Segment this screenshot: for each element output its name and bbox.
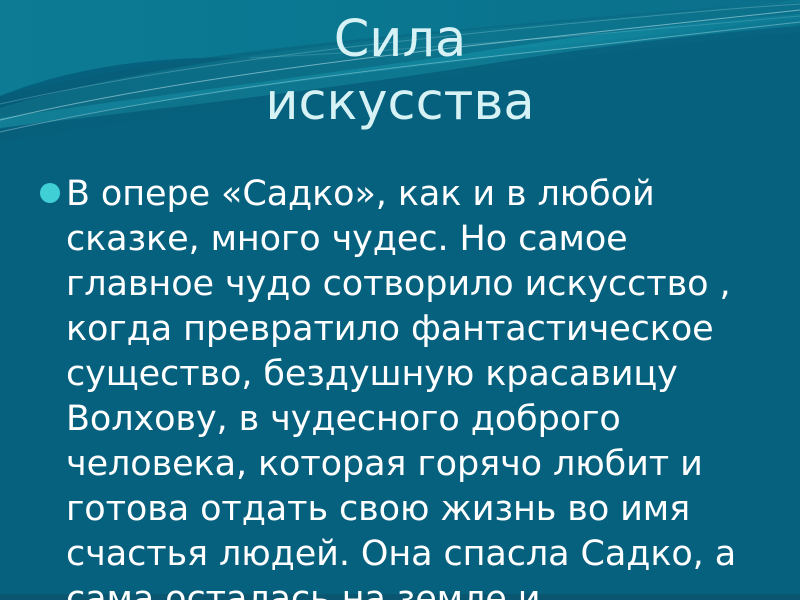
page-title: Сила искусства — [90, 8, 710, 134]
filled-circle-bullet-icon — [40, 183, 60, 203]
list-item: В опере «Садко», как и в любой сказке, м… — [40, 172, 770, 600]
title-block: Сила искусства — [90, 8, 710, 134]
bullet-paragraph-text: В опере «Садко», как и в любой сказке, м… — [66, 172, 770, 600]
presentation-slide: Сила искусства В опере «Садко», как и в … — [0, 0, 800, 600]
body-content: В опере «Садко», как и в любой сказке, м… — [40, 172, 770, 600]
